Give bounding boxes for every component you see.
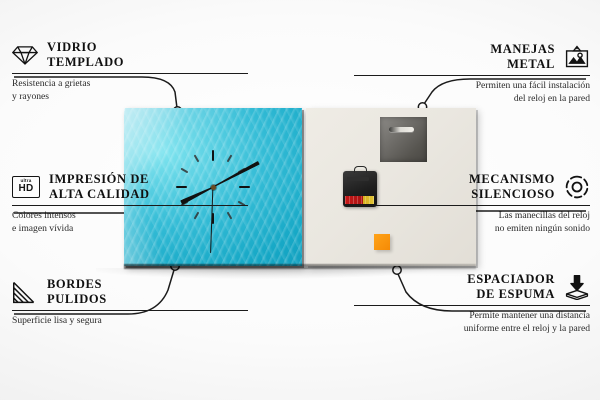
feature-title: VIDRIO TEMPLADO [47,40,124,70]
feature-rule [354,75,590,77]
gear-icon [564,174,590,200]
feature-header: VIDRIO TEMPLADO [12,40,248,70]
hanger-slot [389,127,414,132]
feature-rule [354,205,590,207]
feature-title: ESPACIADOR DE ESPUMA [467,272,555,302]
feature-title: BORDES PULIDOS [47,277,107,307]
feature-impresion-alta-calidad: ultra HD IMPRESIÓN DE ALTA CALIDAD Color… [12,172,248,236]
feature-header: BORDES PULIDOS [12,277,248,307]
feature-header: ultra HD IMPRESIÓN DE ALTA CALIDAD [12,172,248,202]
feature-title: MANEJAS METAL [490,42,555,72]
foam-spacer-icon [564,274,590,300]
feature-description: Superficie lisa y segura [12,315,248,328]
foam-spacer [374,234,390,250]
feature-header: MANEJAS METAL [354,42,590,72]
feature-title: MECANISMO SILENCIOSO [469,172,555,202]
product-drop-shadow [124,264,476,269]
metal-hanger-plate [380,117,427,162]
feature-title: IMPRESIÓN DE ALTA CALIDAD [49,172,150,202]
feature-bordes-pulidos: BORDES PULIDOS Superficie lisa y segura [12,277,248,328]
feature-description: Permiten una fácil instalación del reloj… [354,80,590,106]
feature-description: Permite mantener una distancia uniforme … [354,310,590,336]
infographic-stage: VIDRIO TEMPLADO Resistencia a grietas y … [0,0,600,400]
feature-rule [354,305,590,307]
feature-rule [12,205,248,207]
feature-header: ESPACIADOR DE ESPUMA [354,272,590,302]
feature-description: Resistencia a grietas y rayones [12,78,248,104]
diamond-icon [12,42,38,68]
feature-header: MECANISMO SILENCIOSO [354,172,590,202]
ultra-hd-icon-main-label: HD [18,184,33,194]
picture-hanger-icon [564,44,590,70]
feature-vidrio-templado: VIDRIO TEMPLADO Resistencia a grietas y … [12,40,248,104]
feature-rule [12,310,248,312]
feature-rule [12,73,248,75]
polished-edge-icon [12,279,38,305]
feature-manejas-metal: MANEJAS METAL Permiten una fácil instala… [354,42,590,106]
feature-description: Colores intensos e imagen vívida [12,210,248,236]
feature-description: Las manecillas del reloj no emiten ningú… [354,210,590,236]
feature-espaciador-espuma: ESPACIADOR DE ESPUMA Permite mantener un… [354,272,590,336]
feature-mecanismo-silencioso: MECANISMO SILENCIOSO Las manecillas del … [354,172,590,236]
ultra-hd-icon: ultra HD [12,176,40,198]
